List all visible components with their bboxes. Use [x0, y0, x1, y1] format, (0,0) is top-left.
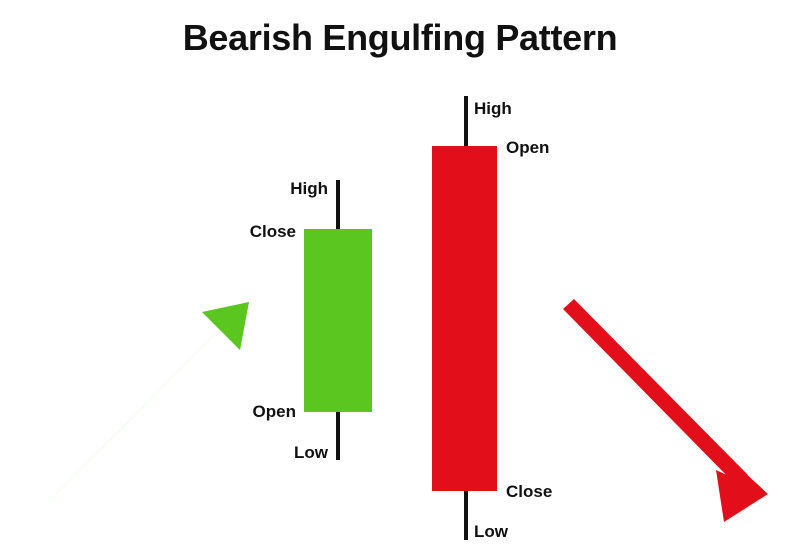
bullish-close-label: Close — [196, 223, 296, 240]
bearish-low-label: Low — [474, 523, 594, 540]
bearish-candle-body — [432, 146, 497, 491]
bullish-high-label: High — [228, 180, 328, 197]
candlestick-diagram: Bearish Engulfing Pattern High Close Ope… — [0, 0, 800, 552]
page-title: Bearish Engulfing Pattern — [0, 16, 800, 60]
bullish-candle-body — [304, 229, 372, 412]
bullish-low-label: Low — [228, 444, 328, 461]
bearish-close-label: Close — [506, 483, 626, 500]
bullish-open-label: Open — [196, 403, 296, 420]
bearish-high-label: High — [474, 100, 594, 117]
bearish-open-label: Open — [506, 139, 626, 156]
trend-arrows-layer — [0, 0, 800, 552]
